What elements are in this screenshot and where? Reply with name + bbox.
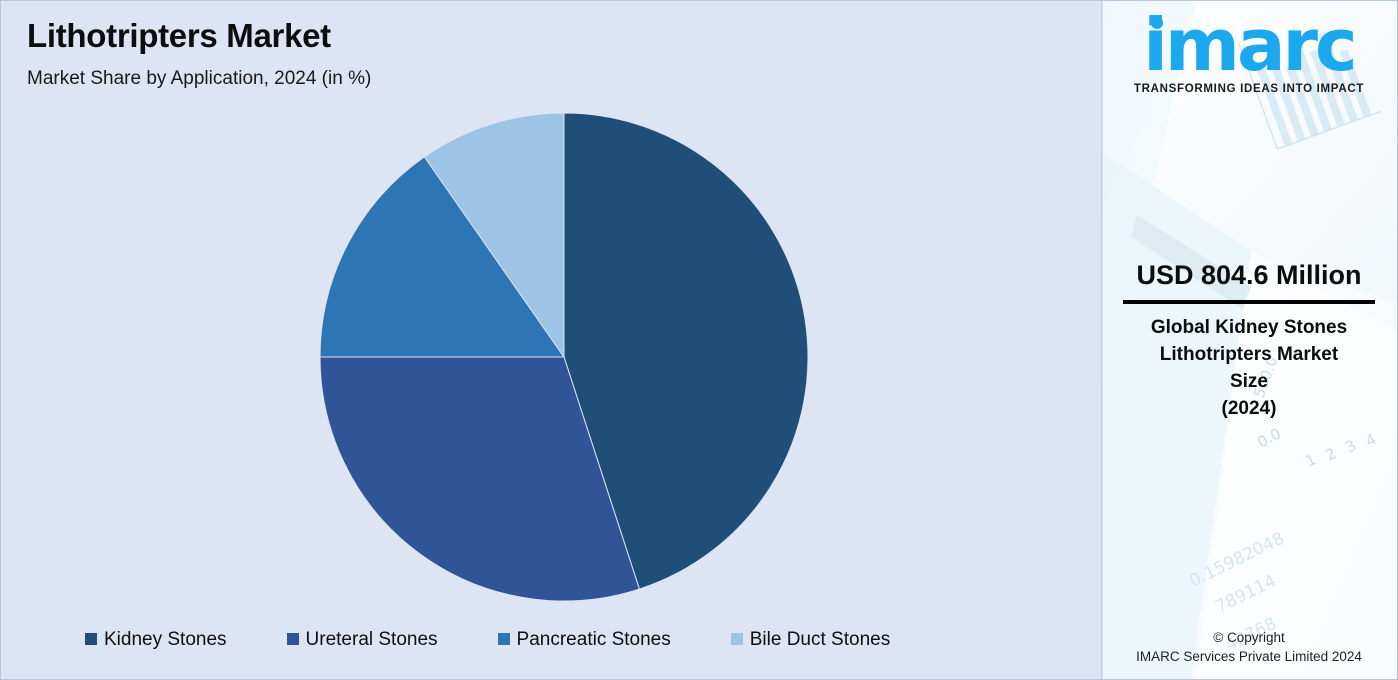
stat-block: USD 804.6 Million Global Kidney StonesLi… — [1113, 259, 1385, 423]
legend-item-label: Ureteral Stones — [306, 630, 438, 649]
chart-legend: Kidney StonesUreteral StonesPancreatic S… — [1, 619, 1101, 659]
imarc-logo: imarc TRANSFORMING IDEAS INTO IMPACT — [1101, 11, 1397, 95]
copyright-line-1: © Copyright — [1101, 628, 1397, 648]
legend-swatch-icon — [731, 633, 743, 645]
legend-item-label: Pancreatic Stones — [517, 630, 671, 649]
copyright-block: © Copyright IMARC Services Private Limit… — [1101, 628, 1397, 667]
stat-description-line: Global Kidney Stones — [1113, 315, 1385, 342]
legend-item[interactable]: Ureteral Stones — [287, 630, 438, 649]
stat-description-line: (2024) — [1113, 396, 1385, 423]
title-block: Lithotripters Market Market Share by App… — [27, 17, 371, 90]
stat-divider — [1123, 300, 1375, 304]
copyright-line-2: IMARC Services Private Limited 2024 — [1101, 647, 1397, 667]
legend-item[interactable]: Kidney Stones — [85, 630, 227, 649]
legend-item[interactable]: Bile Duct Stones — [731, 630, 890, 649]
logo-dot-icon — [1151, 17, 1163, 29]
logo-wordmark: imarc — [1143, 11, 1354, 79]
stat-description-line: Lithotripters Market — [1113, 342, 1385, 369]
legend-item[interactable]: Pancreatic Stones — [498, 630, 671, 649]
legend-item-label: Kidney Stones — [104, 630, 227, 649]
stat-value: USD 804.6 Million — [1113, 259, 1385, 291]
pie-chart — [320, 113, 808, 601]
pie-chart-svg — [320, 113, 808, 601]
infographic-root: Lithotripters Market Market Share by App… — [0, 0, 1398, 680]
legend-swatch-icon — [85, 633, 97, 645]
pie-slice-group — [320, 113, 808, 601]
legend-swatch-icon — [287, 633, 299, 645]
stat-description-line: Size — [1113, 369, 1385, 396]
chart-subtitle: Market Share by Application, 2024 (in %) — [27, 68, 371, 90]
legend-item-label: Bile Duct Stones — [750, 630, 890, 649]
chart-panel: Lithotripters Market Market Share by App… — [1, 1, 1101, 680]
page-title: Lithotripters Market — [27, 17, 371, 55]
legend-swatch-icon — [498, 633, 510, 645]
stat-description: Global Kidney StonesLithotripters Market… — [1113, 315, 1385, 423]
sidebar-panel: 1 2 3 4 0.0 500.0 0.15982048 42768 78911… — [1101, 1, 1397, 679]
sidebar-content: imarc TRANSFORMING IDEAS INTO IMPACT USD… — [1101, 1, 1397, 679]
